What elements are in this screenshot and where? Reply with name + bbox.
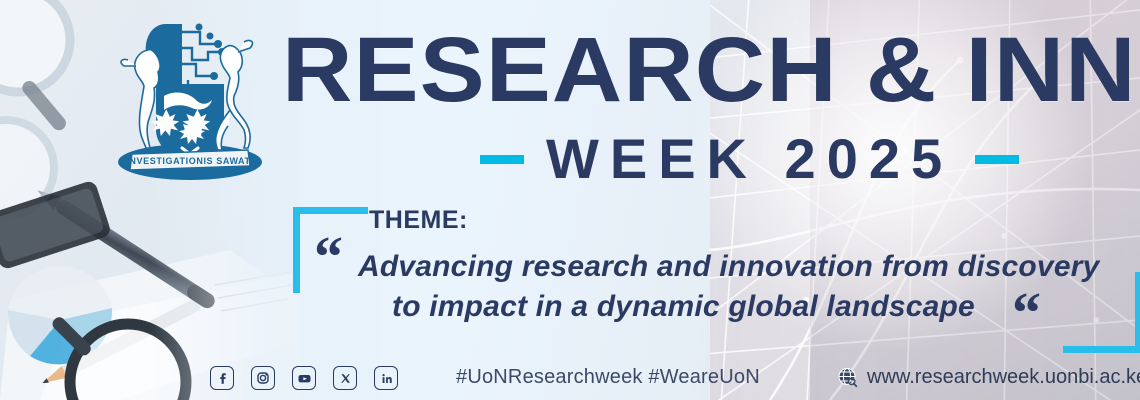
quote-close-icon: “ (1012, 284, 1041, 342)
logo-motto: INVESTIGATIONIS SAWATI (126, 156, 253, 166)
dash-right-icon (975, 155, 1019, 164)
hashtags: #UoNResearchweek #WeareUoN (456, 366, 760, 389)
facebook-icon[interactable] (210, 366, 234, 390)
theme-text-line-1: Advancing research and innovation from d… (358, 250, 1099, 284)
quote-open-icon: “ (314, 228, 343, 286)
social-links (210, 363, 398, 393)
university-of-nairobi-logo: INVESTIGATIONIS SAWATI (104, 14, 276, 186)
research-innovation-week-banner: INVESTIGATIONIS SAWATI RESEARCH & INNOVA… (0, 0, 1140, 400)
globe-icon (836, 366, 858, 388)
bracket-bottom-right (1063, 272, 1140, 353)
linkedin-icon[interactable] (374, 366, 398, 390)
subtitle: WEEK 2025 (546, 128, 953, 190)
page-title: RESEARCH & INNOVAT (282, 18, 1140, 122)
theme-label: THEME: (369, 206, 468, 235)
instagram-icon[interactable] (251, 366, 275, 390)
website-url: www.researchweek.uonbi.ac.ke (867, 366, 1140, 389)
dash-left-icon (480, 155, 524, 164)
youtube-icon[interactable] (292, 366, 316, 390)
subtitle-row: WEEK 2025 (480, 128, 1080, 190)
website-link[interactable]: www.researchweek.uonbi.ac.ke (836, 364, 1140, 390)
headline-wrap: RESEARCH & INNOVAT (282, 18, 1140, 122)
theme-text-line-2: to impact in a dynamic global landscape (392, 290, 975, 324)
x-icon[interactable] (333, 366, 357, 390)
